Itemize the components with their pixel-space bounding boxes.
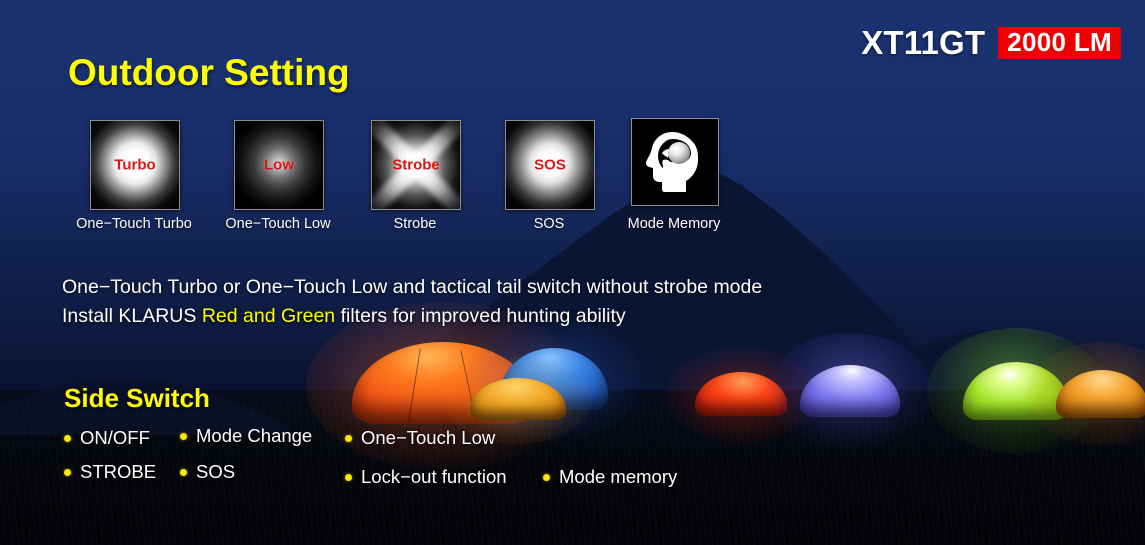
tent-amber-body <box>1056 370 1145 418</box>
bullet-dot-icon <box>345 435 352 442</box>
bullet-mode-memory: Mode memory <box>543 466 677 488</box>
mode-caption-turbo: One−Touch Turbo <box>76 216 192 232</box>
bullet-sos: SOS <box>180 461 235 483</box>
description-line-1: One−Touch Turbo or One−Touch Low and tac… <box>62 276 762 299</box>
bullet-dot-icon <box>180 433 187 440</box>
model-name: XT11GT <box>861 24 985 62</box>
low-icon-box: Low <box>234 120 324 210</box>
mode-item-strobe: Strobe Strobe <box>371 120 461 210</box>
lumens-badge: 2000 LM <box>998 27 1121 59</box>
mode-memory-icon-box <box>631 118 719 206</box>
bullet-label: Lock−out function <box>361 466 507 488</box>
tent-green-body <box>963 362 1069 420</box>
description-line-2: Install KLARUS Red and Green filters for… <box>62 305 626 328</box>
tent-red-body <box>695 372 787 416</box>
product-feature-banner: XT11GT 2000 LM Outdoor Setting Turbo One… <box>0 0 1145 545</box>
bullet-dot-icon <box>64 469 71 476</box>
tent-purple-body <box>800 365 900 417</box>
turbo-label: Turbo <box>91 157 179 174</box>
mode-caption-strobe: Strobe <box>394 216 437 232</box>
mode-caption-low: One−Touch Low <box>225 216 330 232</box>
description-line-2-post: filters for improved hunting ability <box>335 305 625 327</box>
bullet-label: SOS <box>196 461 235 483</box>
bullet-dot-icon <box>64 435 71 442</box>
mode-item-turbo: Turbo One−Touch Turbo <box>90 120 180 210</box>
strobe-label: Strobe <box>372 157 460 174</box>
sos-icon-box: SOS <box>505 120 595 210</box>
head-brain-memory-icon <box>632 119 718 205</box>
bullet-label: One−Touch Low <box>361 427 495 449</box>
filter-colors-highlight: Red and Green <box>202 305 335 327</box>
bullet-lock-out: Lock−out function <box>345 466 507 488</box>
strobe-icon-box: Strobe <box>371 120 461 210</box>
bullet-dot-icon <box>543 474 550 481</box>
tent-green <box>963 362 1069 420</box>
sos-label: SOS <box>506 157 594 174</box>
description-line-2-pre: Install KLARUS <box>62 305 202 327</box>
tent-yellow-small-body <box>470 378 566 420</box>
tent-amber <box>1056 370 1145 418</box>
tent-red <box>695 372 787 416</box>
mode-item-low: Low One−Touch Low <box>234 120 324 210</box>
page-title: Outdoor Setting <box>68 52 350 94</box>
tent-yellow-small <box>470 378 566 420</box>
mode-item-mode-memory: Mode Memory <box>631 118 719 206</box>
bullet-dot-icon <box>345 474 352 481</box>
side-switch-title: Side Switch <box>64 383 210 414</box>
bullet-label: ON/OFF <box>80 427 150 449</box>
turbo-icon-box: Turbo <box>90 120 180 210</box>
mode-caption-sos: SOS <box>534 216 565 232</box>
mode-item-sos: SOS SOS <box>505 120 595 210</box>
low-label: Low <box>235 157 323 174</box>
bullet-dot-icon <box>180 469 187 476</box>
bullet-one-touch-low: One−Touch Low <box>345 427 495 449</box>
bullet-mode-change: Mode Change <box>180 425 312 447</box>
mode-caption-mode-memory: Mode Memory <box>628 216 721 232</box>
bullet-label: STROBE <box>80 461 156 483</box>
tent-purple <box>800 365 900 417</box>
bullet-label: Mode memory <box>559 466 677 488</box>
bullet-label: Mode Change <box>196 425 312 447</box>
model-header: XT11GT 2000 LM <box>861 24 1121 62</box>
bullet-strobe: STROBE <box>64 461 156 483</box>
bullet-on-off: ON/OFF <box>64 427 150 449</box>
